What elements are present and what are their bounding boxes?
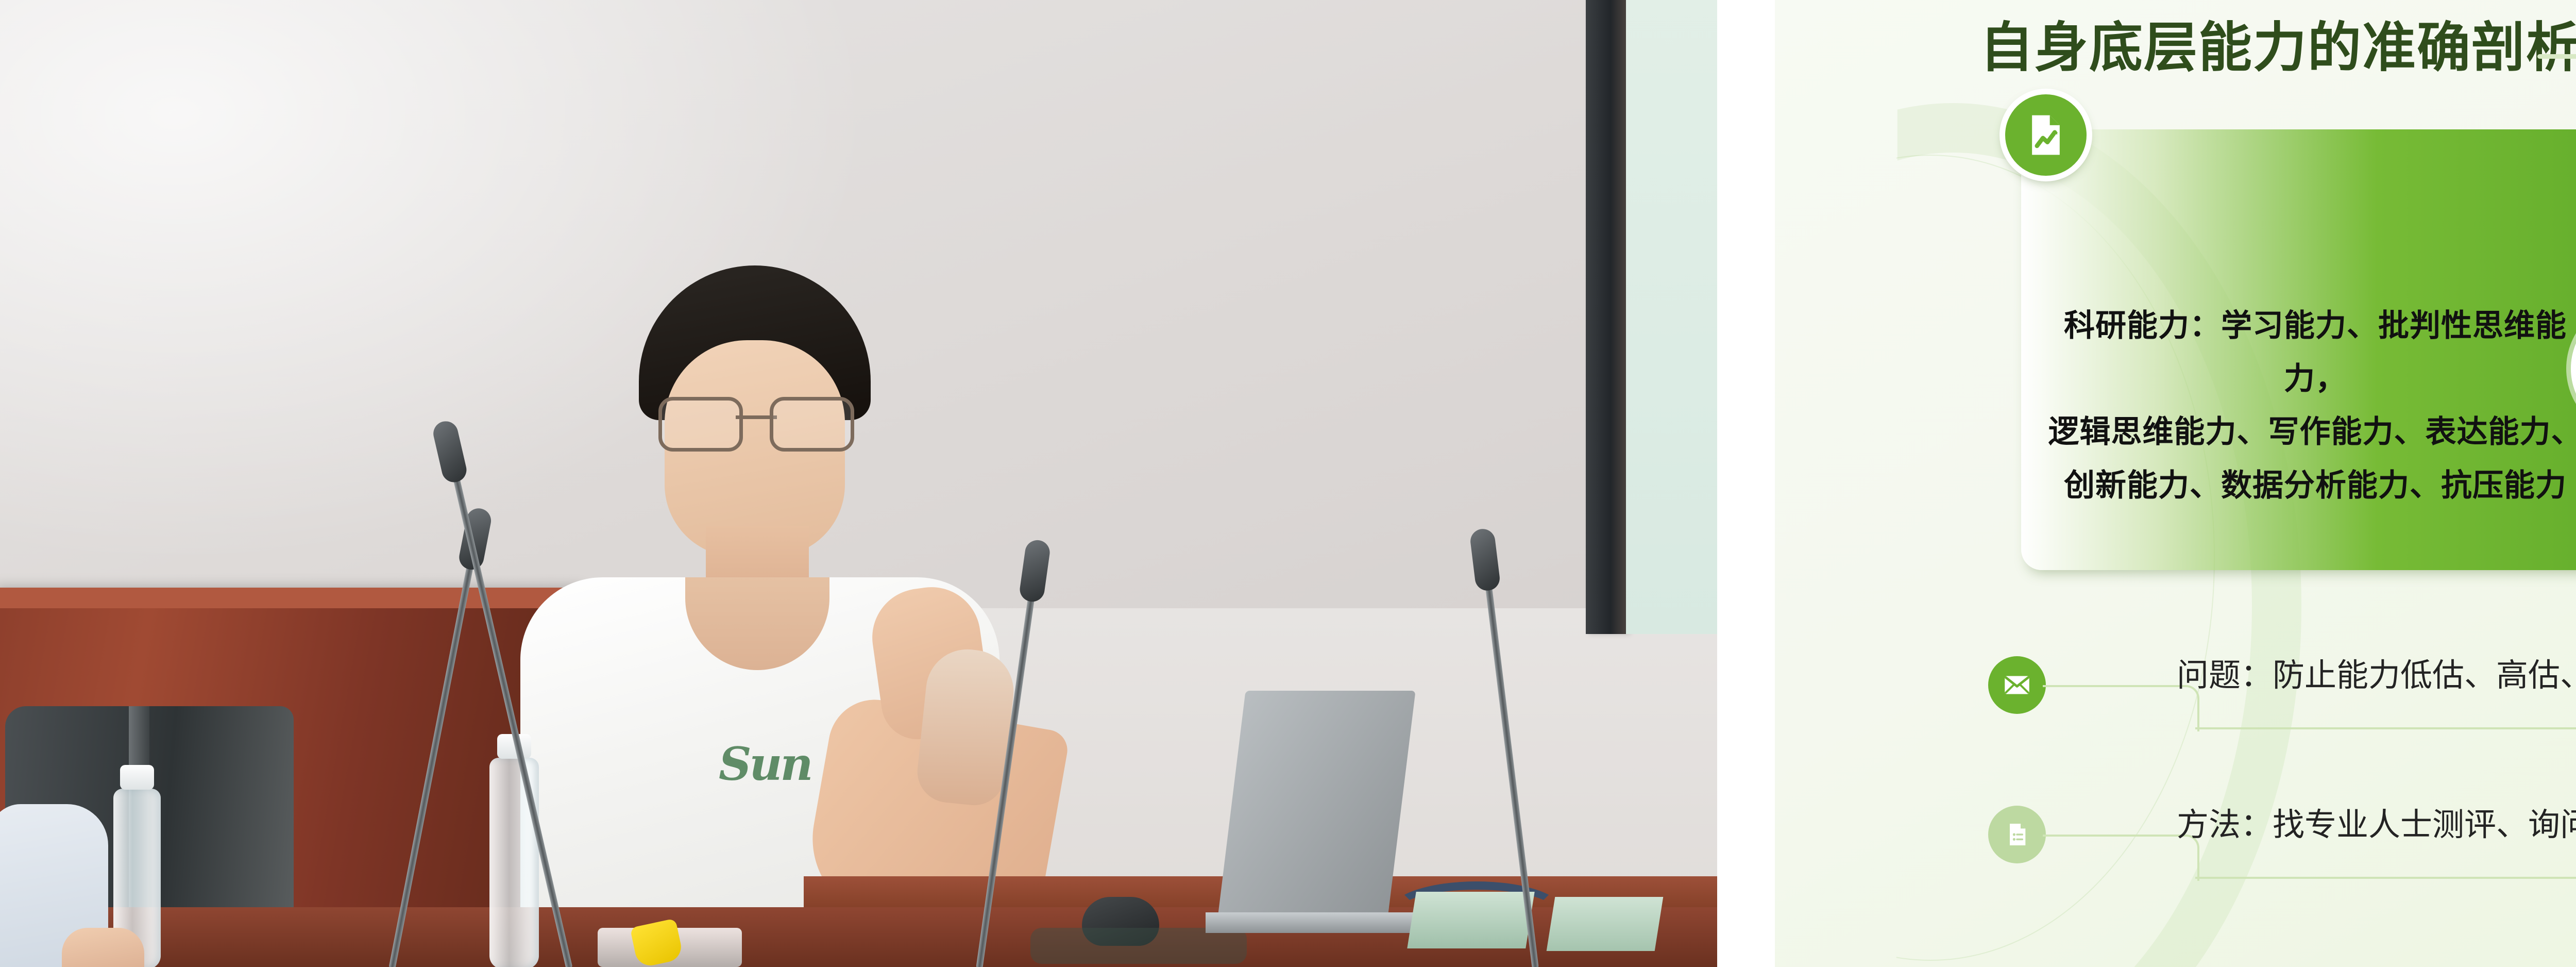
row-method: 方法：找专业人士测评、询问周围人的客观评价、自我剖析 [1775,796,2576,899]
envelope-icon [1988,656,2046,714]
checklist-document-icon [1988,806,2046,863]
card-research-abilities[interactable]: 科研能力：学习能力、批判性思维能力， 逻辑思维能力、写作能力、表达能力、 创新能… [2021,129,2576,570]
vs-comparison: 科研能力：学习能力、批判性思维能力， 逻辑思维能力、写作能力、表达能力、 创新能… [1775,0,2576,582]
mouse-pad [1030,928,1247,964]
desk-nameplate-2 [1547,897,1664,951]
card-line: 创新能力、数据分析能力、抗压能力 [2046,459,2576,512]
row-connector-line-h [2195,877,2576,879]
glasses-lens-left [658,397,743,452]
projector-screen-surface [1626,0,1717,634]
row-connector-line [2043,835,2199,881]
projector-screen-frame [1586,0,1627,634]
conference-speaker-photo: Sun [0,0,1717,967]
card-research-text: 科研能力：学习能力、批判性思维能力， 逻辑思维能力、写作能力、表达能力、 创新能… [2021,299,2576,512]
slide-screenshot: Sun 自身底层能力的准确剖析 [0,0,2576,967]
document-chart-icon [1999,89,2092,181]
presentation-slide: 自身底层能力的准确剖析 科研能力：学习能力、批判性思维能力， 逻辑思维能力、写作… [1775,0,2576,967]
method-text: 方法：找专业人士测评、询问周围人的客观评价、自我剖析 [2177,805,2576,845]
glasses-lens-right [770,397,854,452]
problem-text: 问题：防止能力低估、高估、边界认识不清 [2177,655,2576,695]
row-connector-line [2043,685,2199,731]
attendee-hand [62,928,144,967]
bottle-cap [120,765,154,790]
speaker-glasses [658,397,854,444]
tshirt-graphic: Sun [719,737,837,794]
card-line: 逻辑思维能力、写作能力、表达能力、 [2046,406,2576,459]
desk-nameplate-1 [1407,892,1534,948]
laptop-screen [1217,691,1415,923]
podium-top-edge [0,588,577,608]
row-problem: 问题：防止能力低估、高估、边界认识不清 [1775,647,2576,750]
card-line: 科研能力：学习能力、批判性思维能力， [2046,299,2576,406]
row-connector-line-h [2195,727,2576,729]
